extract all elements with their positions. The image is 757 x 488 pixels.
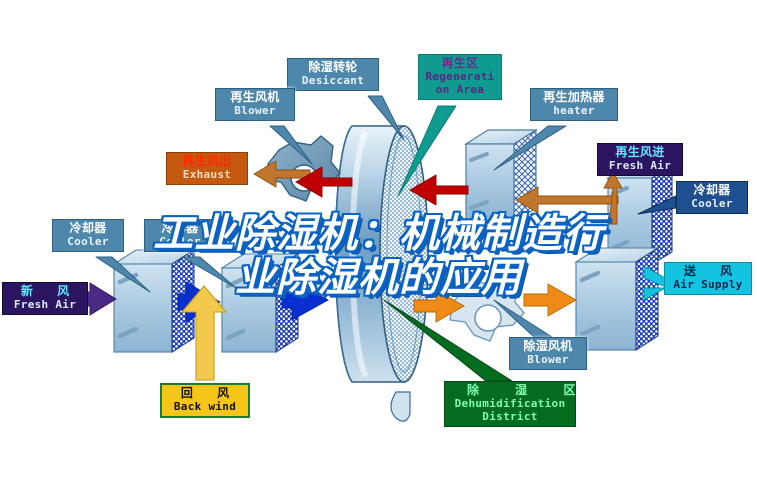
label-en-line2: District bbox=[451, 411, 569, 423]
label-regeneration-blower[interactable]: 再生风机 Blower bbox=[215, 88, 295, 121]
label-cn: 新 风 bbox=[9, 285, 81, 298]
label-cooler-left-inner[interactable]: 冷却器 Cooler bbox=[144, 219, 216, 252]
label-cn: 再生风机 bbox=[222, 91, 288, 104]
regen-fresh-arrow bbox=[516, 187, 618, 213]
label-cn: 再生区 bbox=[425, 57, 495, 70]
label-air-supply[interactable]: 送 风 Air Supply bbox=[664, 262, 752, 295]
label-en: Cooler bbox=[683, 198, 741, 210]
label-en: Blower bbox=[222, 105, 288, 117]
label-en: Exhaust bbox=[173, 169, 241, 181]
label-cooler-right[interactable]: 冷却器 Cooler bbox=[676, 181, 748, 214]
label-cn: 冷却器 bbox=[683, 184, 741, 197]
dehumidification-blower-graphic bbox=[450, 276, 524, 341]
label-desiccant-rotor[interactable]: 除湿转轮 Desiccant bbox=[287, 58, 379, 91]
label-cn: 冷却器 bbox=[59, 222, 117, 235]
fresh-air-arrow bbox=[86, 283, 116, 315]
label-en: Fresh Air bbox=[604, 160, 676, 172]
label-cn: 除湿风机 bbox=[516, 340, 580, 353]
label-cn: 再生加热器 bbox=[537, 91, 611, 104]
label-en-line1: Regenerati bbox=[425, 71, 495, 83]
diagram-canvas: xt bbox=[0, 0, 757, 488]
label-en: heater bbox=[537, 105, 611, 117]
label-cooler-left-outer[interactable]: 冷却器 Cooler bbox=[52, 219, 124, 252]
label-cn: 除 湿 区 bbox=[451, 384, 569, 397]
label-fresh-air-in[interactable]: 新 风 Fresh Air bbox=[2, 282, 88, 315]
label-en: Cooler bbox=[151, 236, 209, 248]
label-regeneration-exhaust[interactable]: 再生风出 Exhaust bbox=[166, 152, 248, 185]
label-en: Air Supply bbox=[671, 279, 745, 291]
label-cn: 送 风 bbox=[671, 265, 745, 278]
label-cn: 冷却器 bbox=[151, 222, 209, 235]
watermark-text: xt bbox=[398, 328, 409, 343]
label-regeneration-heater[interactable]: 再生加热器 heater bbox=[530, 88, 618, 121]
label-en: Back wind bbox=[168, 401, 242, 413]
label-cn: 回 风 bbox=[168, 387, 242, 400]
label-en-line2: on Area bbox=[425, 84, 495, 96]
regeneration-blower-graphic bbox=[266, 136, 340, 201]
label-cn: 再生风出 bbox=[173, 155, 241, 168]
label-dehumidification-blower[interactable]: 除湿风机 Blower bbox=[509, 337, 587, 370]
dry-air-arrow-2 bbox=[524, 284, 576, 316]
label-en: Blower bbox=[516, 354, 580, 366]
label-regeneration-area[interactable]: 再生区 Regenerati on Area bbox=[418, 54, 502, 100]
label-en: Desiccant bbox=[294, 75, 372, 87]
label-en: Fresh Air bbox=[9, 299, 81, 311]
label-cn: 再生风进 bbox=[604, 146, 676, 159]
label-cn: 除湿转轮 bbox=[294, 61, 372, 74]
label-back-wind[interactable]: 回 风 Back wind bbox=[160, 383, 250, 418]
label-en: Cooler bbox=[59, 236, 117, 248]
label-dehumidification-district[interactable]: 除 湿 区 Dehumidification District bbox=[444, 381, 576, 427]
label-en-line1: Dehumidification bbox=[451, 398, 569, 410]
label-regeneration-fresh-air-in[interactable]: 再生风进 Fresh Air bbox=[597, 143, 683, 176]
